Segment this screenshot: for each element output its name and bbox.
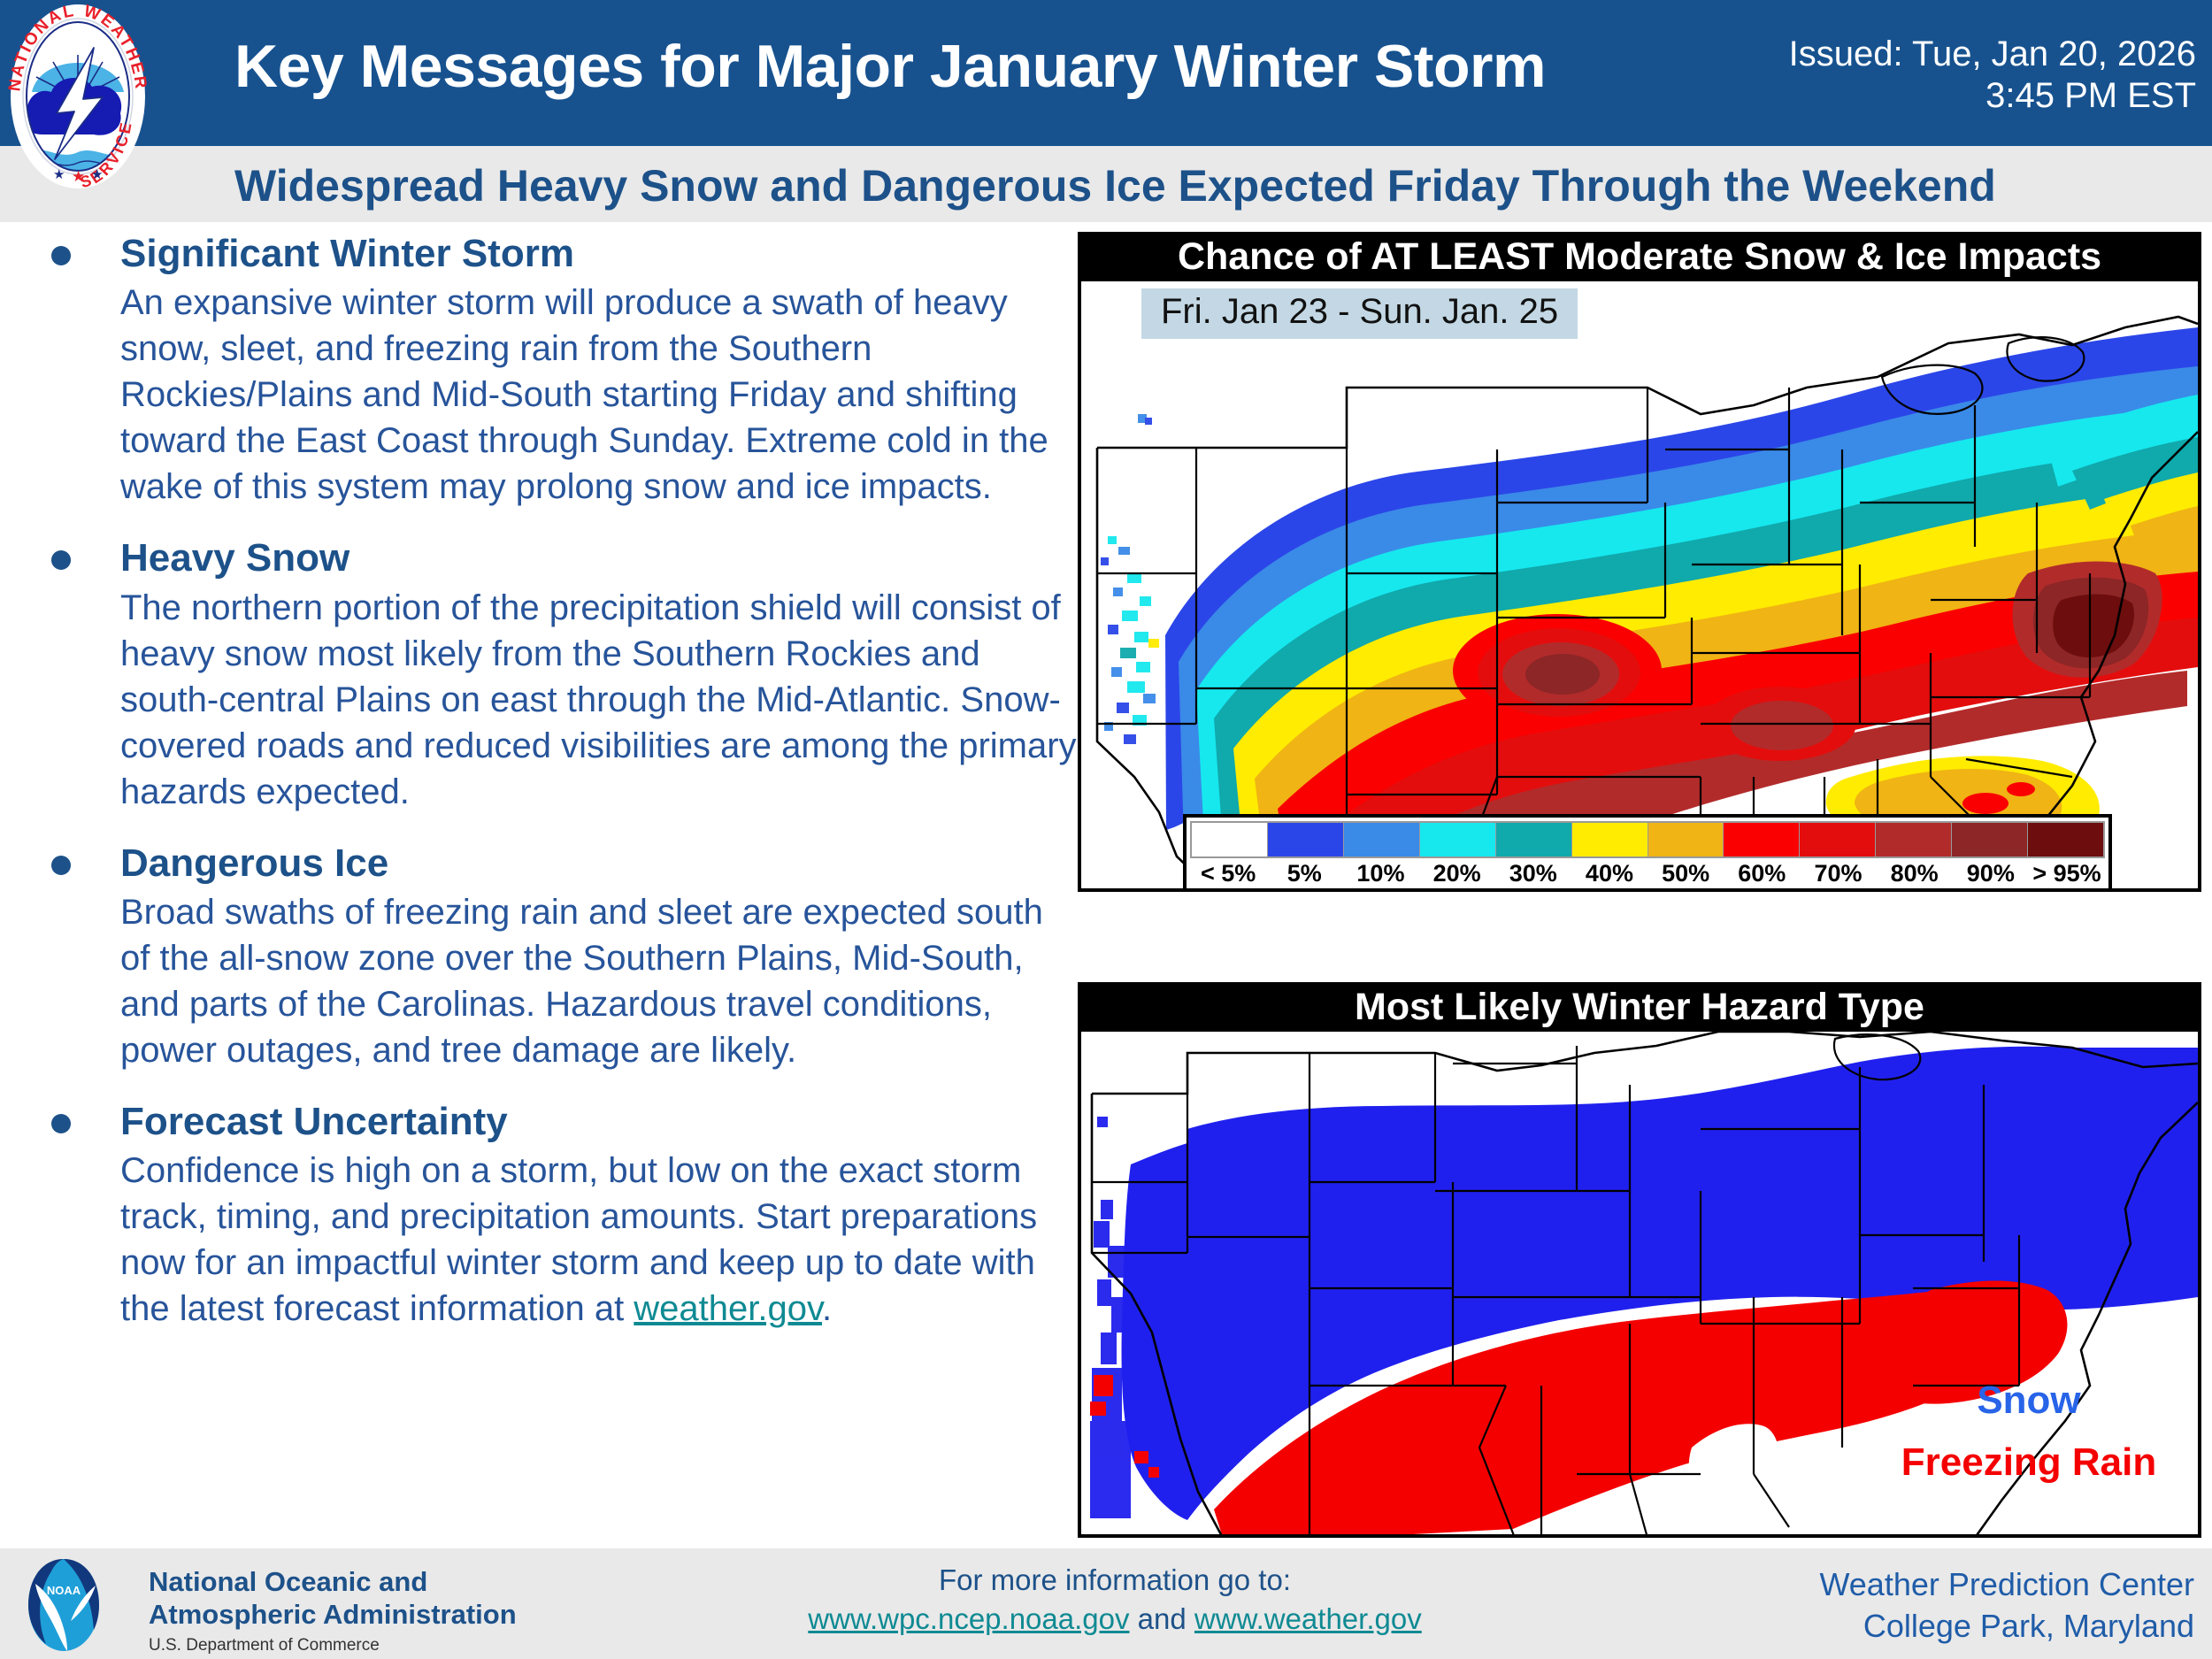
map2-title: Most Likely Winter Hazard Type bbox=[1078, 982, 2201, 1032]
bullet-body-period: . bbox=[822, 1289, 832, 1328]
page-title: Key Messages for Major January Winter St… bbox=[234, 32, 1546, 101]
key-messages-list: Significant Winter Storm An expansive wi… bbox=[35, 232, 1079, 1358]
footer-info-text: For more information go to: bbox=[779, 1561, 1451, 1600]
hazard-type-map-panel: Most Likely Winter Hazard Type bbox=[1078, 982, 2201, 1548]
wpc-name: Weather Prediction Center bbox=[1819, 1564, 2194, 1606]
colorbar-swatch bbox=[1192, 823, 1268, 856]
colorbar-tick-label: 90% bbox=[1953, 860, 2029, 887]
colorbar-labels: < 5%5%10%20%30%40%50%60%70%80%90%> 95% bbox=[1190, 858, 2105, 888]
list-item: Dangerous Ice Broad swaths of freezing r… bbox=[35, 841, 1079, 1073]
wpc-location: College Park, Maryland bbox=[1819, 1606, 2194, 1647]
colorbar-tick-label: 20% bbox=[1419, 860, 1495, 887]
colorbar-tick-label: 30% bbox=[1495, 860, 1571, 887]
colorbar-swatch bbox=[1800, 823, 1876, 856]
bullet-heading: Dangerous Ice bbox=[120, 841, 1079, 885]
bullet-body-text: Confidence is high on a storm, but low o… bbox=[120, 1151, 1037, 1328]
footer-and: and bbox=[1130, 1602, 1194, 1635]
list-item: Heavy Snow The northern portion of the p… bbox=[35, 536, 1079, 814]
noaa-line-1: National Oceanic and bbox=[149, 1566, 517, 1599]
svg-text:★: ★ bbox=[53, 167, 65, 182]
legend-freezing-rain-label: Freezing Rain bbox=[1883, 1440, 2175, 1485]
national-weather-service-seal-icon: NATIONAL WEATHER SERVICE ★ ★ ★ bbox=[7, 2, 149, 192]
weather-gov-footer-link[interactable]: www.weather.gov bbox=[1194, 1602, 1422, 1635]
map1-date-range-label: Fri. Jan 23 - Sun. Jan. 25 bbox=[1141, 288, 1578, 339]
bullet-body: Broad swaths of freezing rain and sleet … bbox=[120, 889, 1079, 1073]
issued-date: Issued: Tue, Jan 20, 2026 bbox=[1789, 34, 2196, 75]
bullet-heading: Significant Winter Storm bbox=[120, 232, 1079, 275]
wpc-link[interactable]: www.wpc.ncep.noaa.gov bbox=[808, 1602, 1129, 1635]
colorbar-tick-label: 5% bbox=[1266, 860, 1342, 887]
colorbar-swatch bbox=[1648, 823, 1724, 856]
colorbar-swatch bbox=[1420, 823, 1496, 856]
bullet-body: The northern portion of the precipitatio… bbox=[120, 585, 1079, 815]
map1-probability-raster bbox=[1081, 281, 2198, 892]
noaa-logo-icon: NOAA bbox=[18, 1559, 111, 1652]
colorbar-swatch bbox=[1344, 823, 1420, 856]
footer-info-block: For more information go to: www.wpc.ncep… bbox=[779, 1561, 1451, 1639]
footer-center-name: Weather Prediction Center College Park, … bbox=[1819, 1564, 2194, 1647]
colorbar-tick-label: < 5% bbox=[1190, 860, 1266, 887]
colorbar-tick-label: > 95% bbox=[2029, 860, 2105, 887]
page-header: Key Messages for Major January Winter St… bbox=[0, 0, 2212, 146]
svg-text:NOAA: NOAA bbox=[47, 1584, 81, 1597]
issued-timestamp: Issued: Tue, Jan 20, 2026 3:45 PM EST bbox=[1789, 34, 2196, 117]
noaa-agency-text: National Oceanic and Atmospheric Adminis… bbox=[149, 1566, 517, 1655]
bullet-dot-icon bbox=[51, 246, 71, 265]
probability-colorbar: < 5%5%10%20%30%40%50%60%70%80%90%> 95% bbox=[1183, 814, 2112, 892]
colorbar-tick-label: 80% bbox=[1877, 860, 1953, 887]
impact-probability-map-panel: Chance of AT LEAST Moderate Snow & Ice I… bbox=[1078, 232, 2201, 991]
svg-text:★: ★ bbox=[72, 168, 85, 185]
issued-time: 3:45 PM EST bbox=[1789, 75, 2196, 117]
colorbar-swatch bbox=[1496, 823, 1572, 856]
colorbar-swatch bbox=[1572, 823, 1648, 856]
noaa-line-2: Atmospheric Administration bbox=[149, 1599, 517, 1632]
svg-text:★: ★ bbox=[91, 167, 103, 182]
bullet-heading: Forecast Uncertainty bbox=[120, 1100, 1079, 1143]
footer-links: www.wpc.ncep.noaa.gov and www.weather.go… bbox=[779, 1600, 1451, 1639]
bullet-body: An expansive winter storm will produce a… bbox=[120, 280, 1079, 510]
bullet-dot-icon bbox=[51, 1114, 71, 1133]
colorbar-tick-label: 10% bbox=[1342, 860, 1418, 887]
bullet-dot-icon bbox=[51, 550, 71, 570]
weather-gov-link[interactable]: weather.gov bbox=[634, 1289, 822, 1328]
map1-title: Chance of AT LEAST Moderate Snow & Ice I… bbox=[1078, 232, 2201, 281]
page-footer: NOAA National Oceanic and Atmospheric Ad… bbox=[0, 1548, 2212, 1659]
subtitle-bar: Widespread Heavy Snow and Dangerous Ice … bbox=[0, 146, 2212, 222]
bullet-body: Confidence is high on a storm, but low o… bbox=[120, 1148, 1079, 1332]
bullet-dot-icon bbox=[51, 856, 71, 875]
map2-canvas: Snow Freezing Rain bbox=[1078, 1032, 2201, 1538]
colorbar-swatch bbox=[1268, 823, 1344, 856]
colorbar-swatch bbox=[1724, 823, 1800, 856]
list-item: Significant Winter Storm An expansive wi… bbox=[35, 232, 1079, 510]
noaa-department-line: U.S. Department of Commerce bbox=[149, 1636, 517, 1655]
colorbar-swatch bbox=[1952, 823, 2028, 856]
colorbar-swatch bbox=[2028, 823, 2103, 856]
map1-canvas: Fri. Jan 23 - Sun. Jan. 25 bbox=[1078, 281, 2201, 892]
list-item: Forecast Uncertainty Confidence is high … bbox=[35, 1100, 1079, 1332]
legend-snow-label: Snow bbox=[1883, 1379, 2175, 1423]
bullet-heading: Heavy Snow bbox=[120, 536, 1079, 580]
colorbar-tick-label: 70% bbox=[1800, 860, 1876, 887]
colorbar-tick-label: 60% bbox=[1724, 860, 1800, 887]
subtitle-text: Widespread Heavy Snow and Dangerous Ice … bbox=[234, 160, 1996, 211]
colorbar-swatch bbox=[1876, 823, 1952, 856]
colorbar-tick-label: 50% bbox=[1647, 860, 1724, 887]
colorbar-swatches bbox=[1190, 821, 2105, 858]
colorbar-tick-label: 40% bbox=[1571, 860, 1647, 887]
